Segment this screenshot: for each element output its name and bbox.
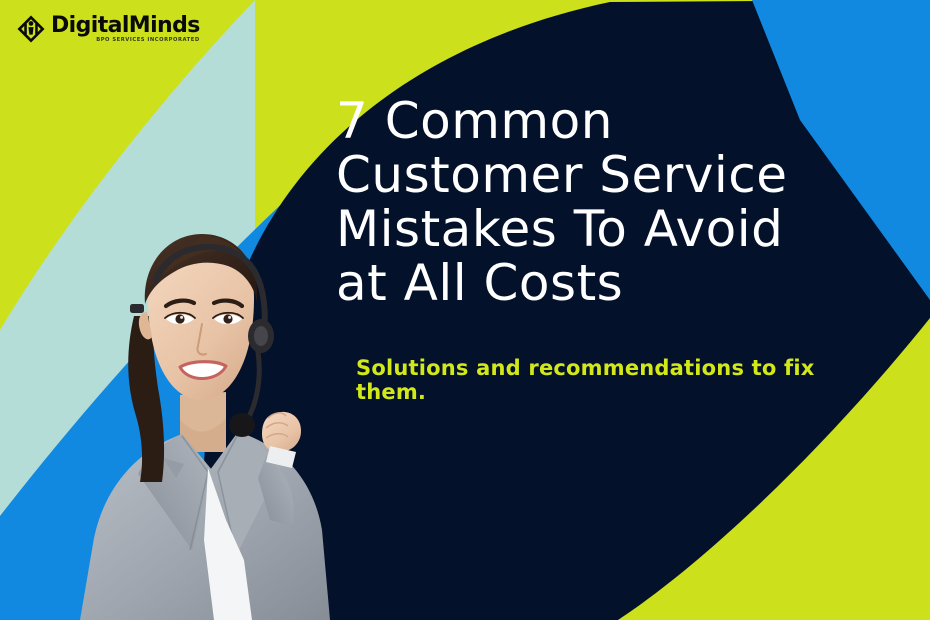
eye-highlight-left xyxy=(180,316,183,319)
logo-wordmark: DigitalMinds xyxy=(51,15,200,37)
headline-line-1: 7 Common xyxy=(336,94,906,148)
blog-header-banner: DigitalMinds BPO SERVICES INCORPORATED 7… xyxy=(0,0,930,620)
digitalminds-diamond-icon xyxy=(16,14,46,44)
agent-photo xyxy=(30,220,360,620)
logo-tagline: BPO SERVICES INCORPORATED xyxy=(51,38,200,43)
brand-logo[interactable]: DigitalMinds BPO SERVICES INCORPORATED xyxy=(16,14,200,44)
headline-block: 7 Common Customer Service Mistakes To Av… xyxy=(336,94,906,310)
glyph-head xyxy=(29,21,34,26)
subheadline: Solutions and recommendations to fix the… xyxy=(356,356,856,405)
glyph-body xyxy=(28,27,33,35)
hand xyxy=(262,412,301,452)
headset-earpiece-pad xyxy=(254,326,268,346)
iris-right xyxy=(223,314,232,323)
headline-line-4: at All Costs xyxy=(336,256,906,310)
headline-line-2: Customer Service xyxy=(336,148,906,202)
logo-text-group: DigitalMinds BPO SERVICES INCORPORATED xyxy=(51,15,200,43)
iris-left xyxy=(175,314,184,323)
agent-illustration xyxy=(30,220,360,620)
glyph-bar-left xyxy=(24,24,27,35)
eye-highlight-right xyxy=(228,316,231,319)
headline-line-3: Mistakes To Avoid xyxy=(336,202,906,256)
headset-clip xyxy=(130,304,144,313)
glyph-bar-right xyxy=(35,24,38,35)
headset-microphone xyxy=(229,413,255,437)
headset-boom-arm xyxy=(246,352,259,422)
